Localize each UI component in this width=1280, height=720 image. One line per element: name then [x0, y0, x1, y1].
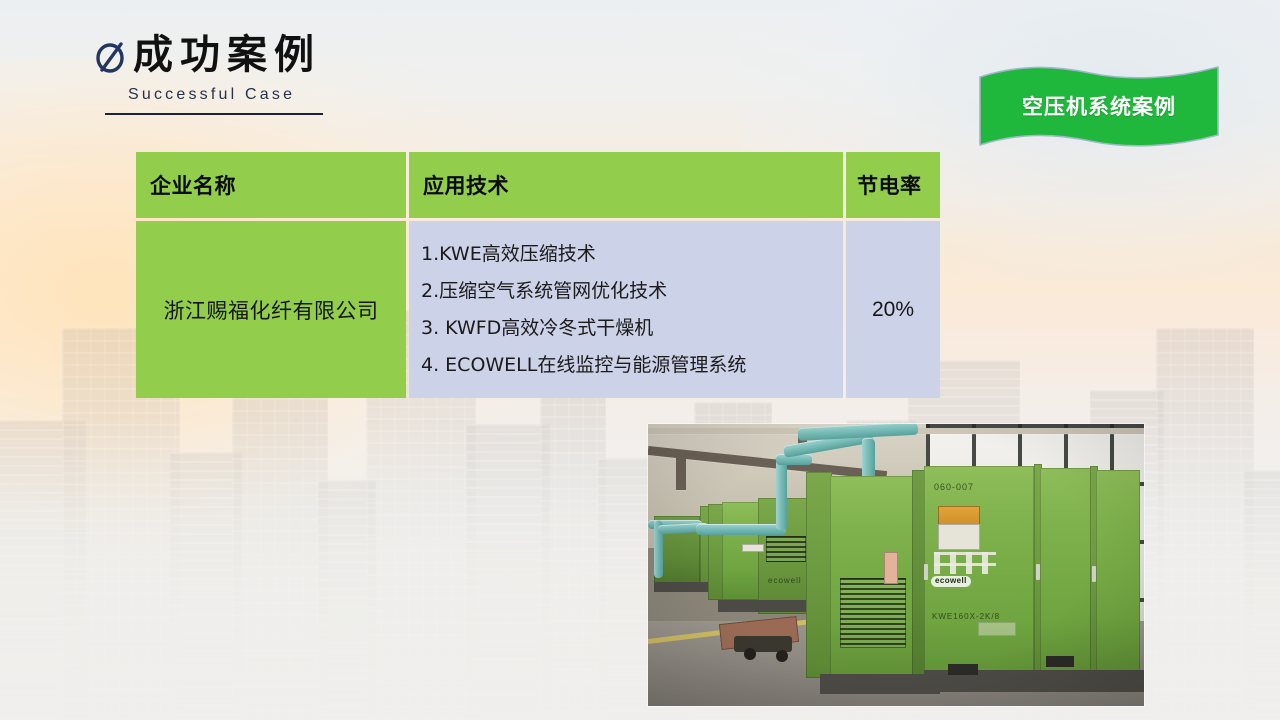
table-cell-technology: 1.KWE高效压缩技术 2.压缩空气系统管网优化技术 3. KWFD高效冷冬式干…: [409, 221, 843, 398]
title-underline: [105, 113, 323, 115]
case-photo: ecowell 060-007 ecowell KWE160X-2K/8: [648, 424, 1144, 706]
table-cell-saving-rate: 20%: [846, 221, 940, 398]
table-cell-company: 浙江赐福化纤有限公司: [136, 221, 406, 398]
null-circle-slash-icon: [95, 40, 127, 74]
technology-item: 3. KWFD高效冷冬式干燥机: [421, 310, 653, 347]
table-header-row: 企业名称 应用技术 节电率: [136, 152, 940, 218]
table-row: 浙江赐福化纤有限公司 1.KWE高效压缩技术 2.压缩空气系统管网优化技术 3.…: [136, 221, 940, 398]
table-header-company: 企业名称: [136, 152, 406, 218]
status-badge-label: 空压机系统案例: [978, 91, 1220, 121]
table-header-technology: 应用技术: [409, 152, 843, 218]
page-subtitle: Successful Case: [128, 86, 515, 104]
page-title-block: 成功案例 Successful Case: [95, 34, 515, 115]
slide-canvas: 成功案例 Successful Case 空压机系统案例 企业名称 应用技术 节…: [0, 0, 1280, 720]
technology-item: 4. ECOWELL在线监控与能源管理系统: [421, 347, 746, 384]
case-table: 企业名称 应用技术 节电率 浙江赐福化纤有限公司 1.KWE高效压缩技术 2.压…: [136, 152, 940, 398]
status-badge: 空压机系统案例: [978, 63, 1220, 151]
technology-item: 1.KWE高效压缩技术: [421, 236, 596, 273]
technology-item: 2.压缩空气系统管网优化技术: [421, 273, 667, 310]
page-title: 成功案例: [133, 34, 321, 76]
table-header-saving-rate: 节电率: [846, 152, 940, 218]
